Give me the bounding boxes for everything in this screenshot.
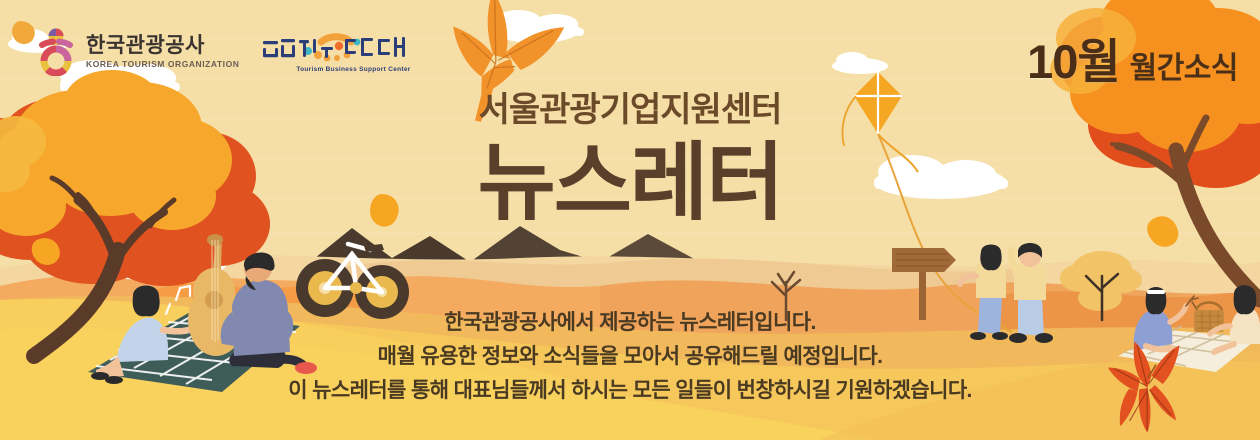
- month-number: 10월: [1027, 38, 1120, 85]
- tbsc-wordmark-mark: [261, 31, 411, 65]
- newsletter-banner: 한국관광공사 KOREA TOURISM ORGANIZATION: [0, 0, 1260, 440]
- kto-name-en: KOREA TOURISM ORGANIZATION: [86, 60, 239, 69]
- bicycle-crank: [350, 282, 362, 294]
- body-line-1: 한국관광공사에서 제공하는 뉴스레터입니다.: [0, 306, 1260, 340]
- body-line-3: 이 뉴스레터를 통해 대표님들께서 하시는 모든 일들이 번창하시길 기원하겠습…: [0, 374, 1260, 408]
- headline-title: 뉴스레터: [0, 139, 1260, 228]
- body-copy-block: 한국관광공사에서 제공하는 뉴스레터입니다. 매월 유용한 정보와 소식들을 모…: [0, 306, 1260, 408]
- headline-block: 서울관광기업지원센터 뉴스레터: [0, 92, 1260, 229]
- kto-figure-mark: [34, 28, 78, 76]
- tbsc-name-en: Tourism Business Support Center: [296, 66, 410, 73]
- tbsc-logo[interactable]: Tourism Business Support Center: [261, 31, 411, 73]
- kto-wordmark: 한국관광공사 KOREA TOURISM ORGANIZATION: [86, 35, 239, 69]
- logo-group: 한국관광공사 KOREA TOURISM ORGANIZATION: [34, 28, 411, 76]
- kto-name-ko: 한국관광공사: [86, 35, 239, 56]
- body-line-2: 매월 유용한 정보와 소식들을 모아서 공유해드릴 예정입니다.: [0, 340, 1260, 374]
- kto-logo[interactable]: 한국관광공사 KOREA TOURISM ORGANIZATION: [34, 28, 239, 76]
- headline-subtitle: 서울관광기업지원센터: [0, 92, 1260, 129]
- month-label: 월간소식: [1130, 54, 1238, 84]
- month-badge: 10월 월간소식: [1027, 38, 1238, 85]
